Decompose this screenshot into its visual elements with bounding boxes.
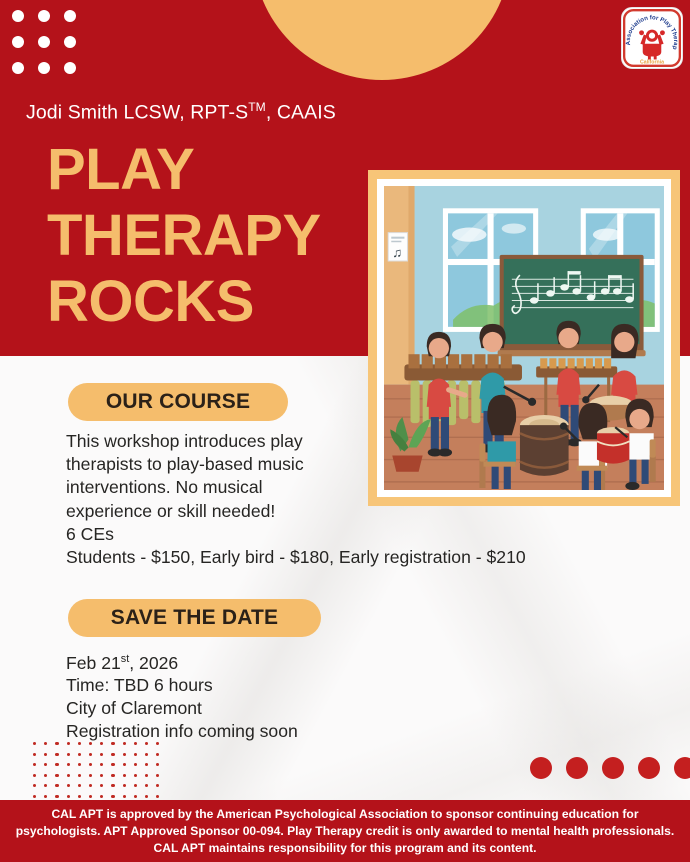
presenter-name-suffix: , CAAIS — [266, 102, 336, 124]
event-year: , 2026 — [129, 653, 178, 673]
page-title: PLAY THERAPY ROCKS — [47, 137, 321, 335]
apt-logo-icon: Association for Play Therapy California — [623, 9, 681, 67]
save-the-date-details: Feb 21st, 2026 Time: TBD 6 hours City of… — [66, 648, 298, 742]
presenter-name: Jodi Smith LCSW, RPT-STM, CAAIS — [26, 100, 336, 125]
apt-logo: Association for Play Therapy California — [621, 7, 683, 69]
page-title-line-2: THERAPY — [47, 203, 321, 269]
event-time: Time: TBD 6 hours — [66, 674, 298, 697]
trademark-symbol: TM — [248, 100, 266, 114]
footer-band: CAL APT is approved by the American Psyc… — [0, 800, 690, 862]
footer-disclaimer: CAL APT is approved by the American Psyc… — [0, 806, 690, 857]
save-the-date-pill: SAVE THE DATE — [68, 599, 321, 637]
large-dots-decoration — [530, 757, 690, 779]
event-date: Feb 21st, 2026 — [66, 648, 298, 674]
dot-grid-icon — [12, 10, 76, 74]
orange-circle-icon — [253, 0, 511, 80]
svg-text:♫: ♫ — [392, 245, 402, 260]
small-dot-grid-decoration — [33, 742, 167, 805]
event-location: City of Claremont — [66, 697, 298, 720]
page-title-line-3: ROCKS — [47, 269, 321, 335]
our-course-pill: OUR COURSE — [68, 383, 288, 421]
presenter-name-text: Jodi Smith LCSW, RPT-S — [26, 102, 248, 124]
course-description: This workshop introduces play therapists… — [66, 430, 526, 569]
poster-canvas: Jodi Smith LCSW, RPT-STM, CAAIS PLAY THE… — [0, 0, 690, 862]
ordinal-suffix: st — [121, 653, 129, 665]
svg-text:California: California — [640, 60, 664, 66]
page-title-line-1: PLAY — [47, 137, 321, 203]
event-registration-note: Registration info coming soon — [66, 720, 298, 743]
event-date-text: Feb 21 — [66, 653, 121, 673]
